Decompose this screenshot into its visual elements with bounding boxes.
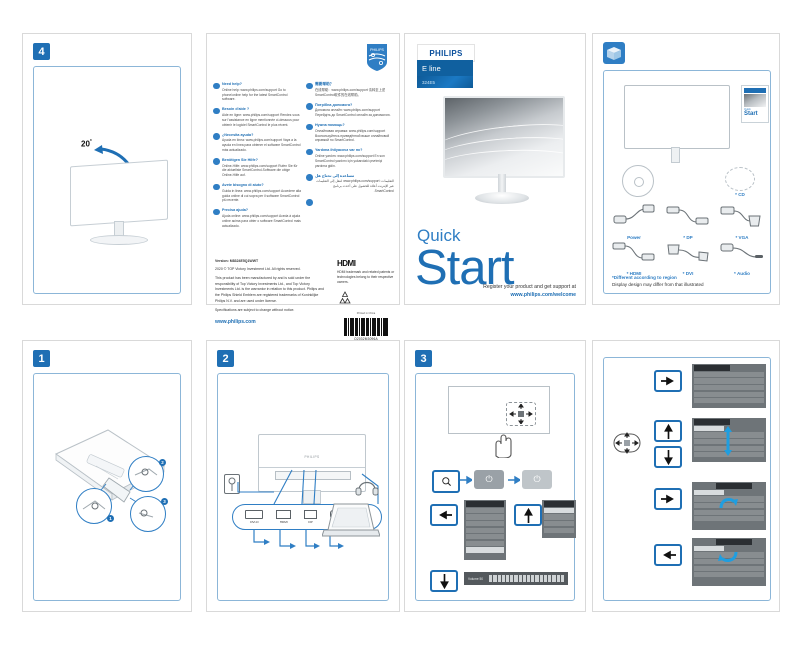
globe-icon [306,124,313,131]
philips-website-link[interactable]: www.philips.com [215,319,256,325]
accessory-vga-cable: * VGA [716,203,768,240]
step-number-4: 4 [33,43,50,60]
osd-row[interactable] [544,528,574,533]
hdmi-block: HDMI HDMI trademark and related patents … [337,259,395,341]
globe-icon [213,83,220,90]
package-box-icon [603,42,625,64]
arrow-up-icon [524,508,533,523]
arrow-up-icon [664,424,673,439]
arrow-right-icon [661,494,676,504]
guide-logo [744,88,766,93]
accessory-quick-start-guide: Quick Start [741,85,769,123]
monitor-screen [70,160,168,227]
port-label: DP [304,520,317,524]
panel-tilt-adjustment: 4 20° -5° [22,33,192,305]
osd-menu-1[interactable] [692,364,766,408]
power-cable-icon [611,203,657,229]
lang-item: مساعدة إلى تحتاج هل التعليمات: www.phili… [306,174,394,194]
panel-multilingual-support: PHILIPS Need help? Online help: www.phil… [206,33,400,305]
accessory-hdmi-cable: * HDMI [608,239,660,276]
osd-smartimage-menu[interactable] [464,500,506,560]
port-label: HDMI [276,520,291,524]
register-url-link[interactable]: www.philips.com/welcome [483,292,576,300]
callout-badge-2: 2 [159,459,166,466]
lang-heading: Потрібна допомога? [315,103,394,108]
specs-note: Specifications are subject to change wit… [215,308,327,314]
registration-note: Register your product and get support at… [483,284,576,300]
osd-menu-2[interactable] [692,418,766,462]
accessories-frame: Quick Start * CD Power [603,70,771,294]
arrow-left-icon [661,550,676,560]
headphone-icon [354,474,380,496]
port-dvi: DVI-D [245,510,263,524]
power-icon: ⏻ [533,474,540,485]
globe-icon [213,184,220,191]
lang-item: Потрібна допомога? Допомога онлайн: www.… [306,103,394,118]
panel-step-1-assemble-base: 1 1 [22,340,192,612]
osd-row[interactable] [694,385,764,390]
lang-item: Precisa ajuda? Ajuda online: www.philips… [213,208,301,228]
brand-block: PHILIPS E line 324E5 [417,44,473,88]
svg-text:PHILIPS: PHILIPS [370,48,384,52]
accessory-monitor-neck [671,147,680,163]
accessory-monitor [624,85,730,149]
lang-item: Benötigen Sie Hilfe? Online-Hilfe: www.p… [213,158,301,178]
osd-row[interactable] [694,392,764,397]
accessory-dvi-cable: * DVI [662,239,714,276]
updown-arrow-annotation [722,424,734,458]
volume-ticks[interactable] [489,575,564,582]
panel-cover: PHILIPS E line 324E5 Quick Start Registe… [404,33,586,305]
laptop-icon [322,500,380,542]
port-label: DVI-D [245,520,263,524]
copyright-line: 2020 © TOP Victory Investment Ltd. All r… [215,267,327,273]
step2-illustration-frame: PHILIPS [217,373,389,601]
osd-row[interactable] [694,516,764,521]
arrow-right-icon [460,475,472,485]
lang-heading: Нужна помощь? [315,123,394,128]
zoom-toggle-button[interactable] [432,470,460,493]
lang-body: Онлайновая справка: www.philips.com/supp… [315,129,394,143]
cd-small-icon [725,167,755,191]
osd-row[interactable] [694,572,764,577]
globe-icon [213,108,220,115]
step1-illustration-frame: 1 2 3 [33,373,181,601]
osd-title-bar [544,501,574,506]
lang-heading: Benötigen Sie Hilfe? [222,158,301,163]
osd-menu-3[interactable] [692,482,766,530]
lang-heading: ¿Necesita ayuda? [222,133,301,138]
joystick-4-way-icon[interactable] [612,430,642,456]
osd-row[interactable] [694,566,764,571]
dp-cable-icon [665,203,711,229]
audio-cable-icon [719,239,765,265]
osd-row-selected[interactable] [544,508,574,513]
lang-body: Ajuda online: www.philips.com/support Ac… [222,214,301,228]
panel-step-3-osd-basics: 3 [404,340,586,612]
osd-row[interactable] [466,528,504,533]
hdmi-note: HDMI trademark and related patents or te… [337,270,395,285]
callout-badge-3: 3 [161,498,168,505]
language-column-right: 需要帮助？ 在线帮助：www.philips.com/support 请转至上述… [306,82,394,234]
osd-title-bar [694,365,730,370]
model-number-label: 324E5 [417,76,473,88]
lang-item: Need help? Online help: www.philips.com/… [213,82,301,102]
lang-heading: Avete bisogno di aiuto? [222,183,301,188]
cover-monitor-neck [498,174,506,194]
language-blocks: Need help? Online help: www.philips.com/… [213,82,395,234]
osd-row[interactable] [466,514,504,519]
magnifier-icon [441,476,452,487]
lang-body: Online-Hilfe: www.philips.com/support Ru… [222,164,301,178]
osd-row[interactable] [466,521,504,526]
osd-row[interactable] [694,378,764,383]
lang-body: Ayuda en línea: www.philips.com/support … [222,138,301,152]
lang-heading: مساعدة إلى تحتاج هل [315,174,394,179]
globe-icon [306,174,313,181]
quick-start-sheet: 4 20° -5° PHILIPS [0,0,802,648]
design-note: Display design may differ from that illu… [612,282,764,287]
back-arrow-annotation [718,548,740,564]
vga-cable-icon [719,203,765,229]
manufacturer-note: This product has been manufactured by an… [215,276,327,304]
arrow-down-icon [440,574,449,589]
callout-badge-1: 1 [107,515,114,522]
osd-row[interactable] [544,521,574,526]
osd-row[interactable] [544,514,574,519]
philips-shield-icon: PHILIPS [365,42,389,72]
lang-body: Online yardım: www.philips.com/support E… [315,154,394,168]
arrow-left-icon [437,510,452,520]
globe-icon [213,209,220,216]
osd-row-selected[interactable] [466,547,504,552]
lang-item: Avete bisogno di aiuto? Guida in linea: … [213,183,301,203]
nav-down-button-2[interactable] [654,446,682,468]
tilt-illustration-frame: 20° -5° [33,66,181,294]
arrow-right-icon [661,376,676,386]
nav-right-button-1[interactable] [654,370,682,392]
globe-icon [306,83,313,90]
step-number-3: 3 [415,350,432,367]
lang-item: Нужна помощь? Онлайновая справка: www.ph… [306,123,394,143]
accessory-caption: * CD [714,192,766,197]
register-text: Register your product and get support at [483,284,576,290]
arrow-right-icon [508,475,520,485]
nav-down-button[interactable] [430,570,458,592]
volume-label: Volume 50 [468,577,483,581]
power-off-button[interactable]: ⏻ [522,470,552,489]
osd-navigation-frame [603,357,771,601]
osd-row[interactable] [466,541,504,546]
arrow-down-icon [664,450,673,465]
cover-monitor-base [475,192,529,204]
globe-icon [306,103,313,110]
osd-row[interactable] [466,508,504,513]
nav-left-button[interactable] [430,504,458,526]
port-hdmi: HDMI [276,510,291,524]
dp-port-icon [304,510,317,519]
language-column-left: Need help? Online help: www.philips.com/… [213,82,301,234]
dvi-cable-icon [665,239,711,265]
recycle-icon [337,290,353,306]
osd-row[interactable] [694,372,764,377]
globe-icon [213,158,220,165]
hdmi-port-icon [276,510,291,519]
panel-osd-navigation [592,340,780,612]
osd-menu-4[interactable] [692,538,766,586]
osd-title-bar [466,501,504,506]
power-icon: ⏻ [485,474,492,485]
panel-box-contents: Quick Start * CD Power [592,33,780,305]
cover-monitor-image [443,96,565,178]
region-note: *Different according to region [612,275,764,280]
cd-disc-icon [622,165,654,197]
accessory-footnotes: *Different according to region Display d… [612,275,764,287]
lang-body: Aide en ligne: www.philips.com/support R… [222,113,301,127]
lang-body: Online help: www.philips.com/support Go … [222,88,301,102]
guide-url-text [744,118,766,120]
globe-icon [306,149,313,156]
dvi-port-icon [245,510,263,519]
lang-item: Yardıma ihtiyacınız var mı? Online yardı… [306,148,394,168]
step3-illustration-frame: ⏻ ⏻ [415,373,575,601]
guide-cover-image [744,94,766,107]
joystick-location-highlight [506,402,536,426]
barcode [337,318,395,336]
hand-pointer-icon [488,432,518,458]
lang-heading: Need help? [222,82,301,87]
printed-in-label: Printed in China [337,312,395,315]
port-dp: DP [304,510,317,524]
lang-heading: Precisa ajuda? [222,208,301,213]
panel-step-2-connect-cables: 2 PHILIPS [206,340,400,612]
osd-row[interactable] [694,510,764,515]
osd-title-bar [716,539,752,544]
lang-item: ¿Necesita ayuda? Ayuda en línea: www.phi… [213,133,301,153]
lang-heading: Yardıma ihtiyacınız var mı? [315,148,394,153]
enter-submenu-arrow [718,494,738,510]
globe-icon [213,133,220,140]
accessory-power-cable: Power [608,203,660,240]
monitor-base [90,235,148,245]
osd-row[interactable] [466,534,504,539]
version-line: Version: M8324E5Q1WWT [215,259,327,265]
lang-heading: Besoin d'aide ? [222,107,301,112]
accessory-cd [612,165,664,197]
lang-item: 需要帮助？ 在线帮助：www.philips.com/support 请转至上述… [306,82,394,97]
osd-title-bar [716,483,752,488]
osd-row-selected[interactable] [694,426,724,431]
step-number-1: 1 [33,350,50,367]
lang-body: 在线帮助：www.philips.com/support 请转至上述SmartC… [315,88,394,98]
lang-heading: 需要帮助？ [315,82,394,87]
power-on-button[interactable]: ⏻ [474,470,504,489]
lang-body: Допомога онлайн: www.philips.com/support… [315,108,394,118]
accessory-audio-cable: * Audio [716,239,768,276]
product-line-label: E line [417,60,473,76]
accessory-cd-labeled: * CD [714,167,766,197]
nav-up-button[interactable] [514,504,542,526]
nav-up-button-2[interactable] [654,420,682,442]
accessory-dp-cable: * DP [662,203,714,240]
lang-body: التعليمات: www.philips.com/support انتقل… [315,179,394,193]
osd-row[interactable] [694,398,764,403]
lang-item: Besoin d'aide ? Aide en ligne: www.phili… [213,107,301,127]
legal-text: Version: M8324E5Q1WWT 2020 © TOP Victory… [215,259,327,326]
hdmi-logo: HDMI [337,259,395,268]
nav-right-button-3[interactable] [654,488,682,510]
guide-start-text: Start [744,111,766,117]
step-number-2: 2 [217,350,234,367]
osd-volume-bar[interactable]: Volume 50 [464,572,568,585]
lang-body: Guida in linea: www.philips.com/support … [222,189,301,203]
globe-icon [306,199,313,206]
hdmi-cable-icon [611,239,657,265]
nav-left-button-4[interactable] [654,544,682,566]
osd-input-menu[interactable] [542,500,576,538]
